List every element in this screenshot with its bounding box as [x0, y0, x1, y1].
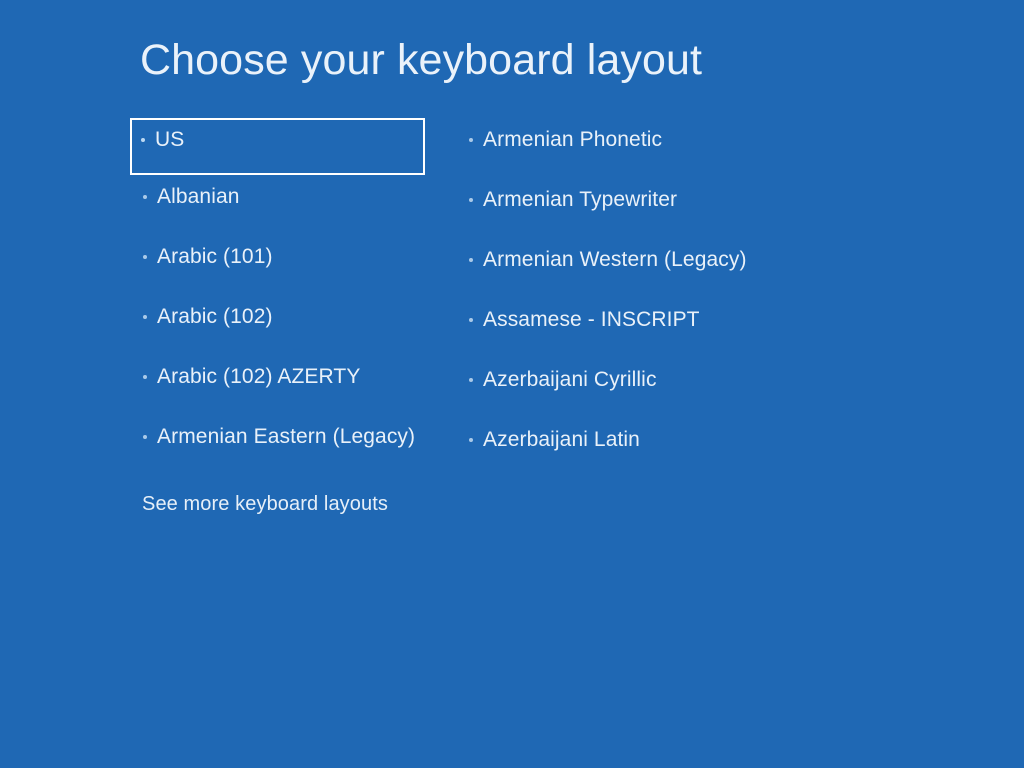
keyboard-layout-option-label: Armenian Typewriter [483, 187, 677, 213]
keyboard-layout-option-label: Azerbaijani Cyrillic [483, 367, 657, 393]
layout-columns: USAlbanianArabic (101)Arabic (102)Arabic… [0, 0, 1024, 768]
bullet-dot-icon [469, 318, 473, 322]
bullet-dot-icon [143, 375, 147, 379]
keyboard-layout-option[interactable]: Azerbaijani Latin [458, 418, 788, 478]
keyboard-layout-option-label: Armenian Phonetic [483, 127, 662, 153]
keyboard-layout-option-label: Albanian [157, 184, 240, 210]
bullet-dot-icon [143, 315, 147, 319]
keyboard-layout-option[interactable]: Azerbaijani Cyrillic [458, 358, 788, 418]
keyboard-layout-list-right: Armenian PhoneticArmenian TypewriterArme… [458, 118, 788, 478]
bullet-dot-icon [143, 255, 147, 259]
keyboard-layout-option[interactable]: Assamese - INSCRIPT [458, 298, 788, 358]
keyboard-layout-option-label: Armenian Eastern (Legacy) [157, 424, 415, 450]
keyboard-layout-option[interactable]: Armenian Phonetic [458, 118, 788, 178]
keyboard-layout-option[interactable]: US [130, 118, 425, 175]
keyboard-layout-option[interactable]: Albanian [132, 175, 432, 235]
keyboard-layout-option-label: Armenian Western (Legacy) [483, 247, 747, 273]
keyboard-layout-option[interactable]: Arabic (102) AZERTY [132, 355, 432, 415]
bullet-dot-icon [143, 435, 147, 439]
bullet-dot-icon [469, 378, 473, 382]
bullet-dot-icon [143, 195, 147, 199]
bullet-dot-icon [469, 438, 473, 442]
keyboard-layout-option[interactable]: Armenian Western (Legacy) [458, 238, 788, 298]
keyboard-layout-option-label: Arabic (102) AZERTY [157, 364, 360, 390]
keyboard-layout-option-label: Arabic (102) [157, 304, 273, 330]
bullet-dot-icon [469, 258, 473, 262]
see-more-keyboard-layouts-link[interactable]: See more keyboard layouts [142, 491, 388, 517]
keyboard-layout-option-label: US [155, 127, 184, 153]
keyboard-layout-list-left: USAlbanianArabic (101)Arabic (102)Arabic… [132, 118, 432, 475]
keyboard-layout-option-label: Azerbaijani Latin [483, 427, 640, 453]
keyboard-layout-option[interactable]: Armenian Eastern (Legacy) [132, 415, 432, 475]
keyboard-layout-screen: Choose your keyboard layout USAlbanianAr… [0, 0, 1024, 768]
bullet-dot-icon [469, 198, 473, 202]
keyboard-layout-option[interactable]: Arabic (101) [132, 235, 432, 295]
keyboard-layout-option-label: Arabic (101) [157, 244, 273, 270]
keyboard-layout-option-label: Assamese - INSCRIPT [483, 307, 700, 333]
bullet-dot-icon [141, 138, 145, 142]
keyboard-layout-option[interactable]: Armenian Typewriter [458, 178, 788, 238]
bullet-dot-icon [469, 138, 473, 142]
keyboard-layout-option[interactable]: Arabic (102) [132, 295, 432, 355]
